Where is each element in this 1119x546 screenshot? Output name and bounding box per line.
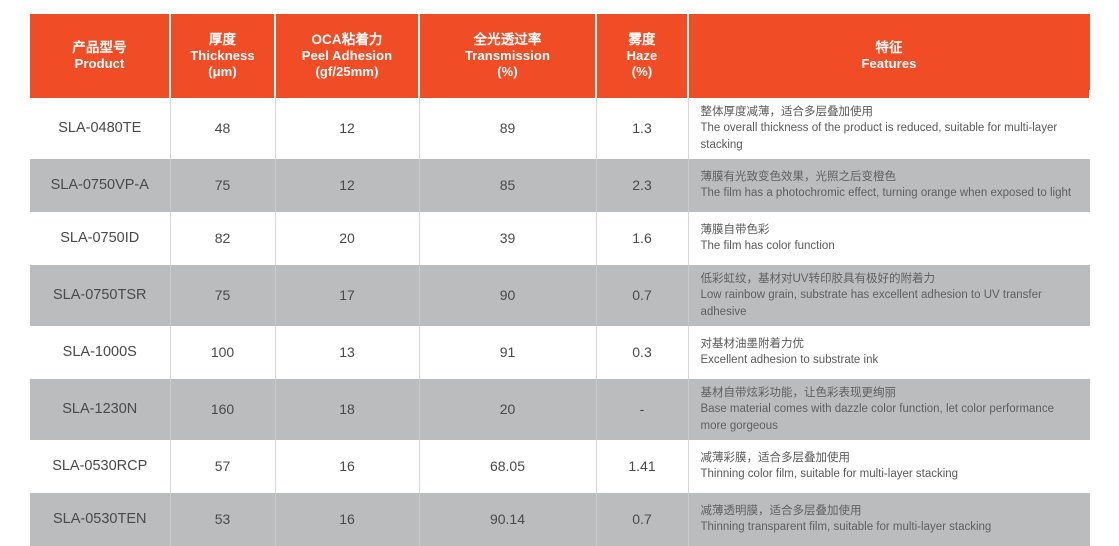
cell-features: 低彩虹纹，基材对UV转印胶具有极好的附着力Low rainbow grain, …: [688, 265, 1090, 326]
cell-product: SLA-0530TEN: [30, 493, 170, 546]
cell-peel-adhesion: 16: [275, 440, 419, 493]
cell-features: 整体厚度减薄，适合多层叠加使用The overall thickness of …: [688, 98, 1090, 159]
column-header-haze-en: Haze: [603, 48, 681, 64]
cell-features: 对基材油墨附着力优Excellent adhesion to substrate…: [688, 326, 1090, 379]
table-row: SLA-0750TSR7517900.7低彩虹纹，基材对UV转印胶具有极好的附着…: [30, 265, 1090, 326]
cell-features: 减薄彩膜，适合多层叠加使用Thinning color film, suitab…: [688, 440, 1090, 493]
feature-text-en: Base material comes with dazzle color fu…: [701, 401, 1081, 434]
column-header-product: 产品型号 Product: [30, 14, 170, 98]
cell-transmission: 20: [419, 379, 596, 440]
feature-text-cn: 减薄彩膜，适合多层叠加使用: [701, 450, 1081, 466]
cell-thickness: 160: [170, 379, 275, 440]
cell-peel-adhesion: 16: [275, 493, 419, 546]
cell-haze: 2.3: [596, 159, 688, 212]
cell-haze: -: [596, 379, 688, 440]
cell-transmission: 90.14: [419, 493, 596, 546]
cell-peel-adhesion: 13: [275, 326, 419, 379]
cell-transmission: 90: [419, 265, 596, 326]
product-specification-table: 产品型号 Product 厚度 Thickness (μm) OCA粘着力 Pe…: [30, 14, 1091, 546]
cell-haze: 1.3: [596, 98, 688, 159]
feature-text-cn: 薄膜有光致变色效果，光照之后变橙色: [701, 169, 1081, 185]
feature-text-cn: 薄膜自带色彩: [701, 222, 1081, 238]
cell-peel-adhesion: 20: [275, 212, 419, 265]
cell-haze: 0.3: [596, 326, 688, 379]
table-row: SLA-0750ID8220391.6薄膜自带色彩The film has co…: [30, 212, 1090, 265]
cell-transmission: 91: [419, 326, 596, 379]
feature-text-en: Low rainbow grain, substrate has excelle…: [701, 287, 1081, 320]
cell-peel-adhesion: 12: [275, 159, 419, 212]
cell-transmission: 85: [419, 159, 596, 212]
feature-text-cn: 对基材油墨附着力优: [701, 336, 1081, 352]
cell-peel-adhesion: 18: [275, 379, 419, 440]
column-header-peel-adhesion-unit: (gf/25mm): [282, 64, 412, 80]
cell-thickness: 75: [170, 159, 275, 212]
feature-text-cn: 基材自带炫彩功能，让色彩表现更绚丽: [701, 385, 1081, 401]
column-header-peel-adhesion: OCA粘着力 Peel Adhesion (gf/25mm): [275, 14, 419, 98]
table-row: SLA-1000S10013910.3对基材油墨附着力优Excellent ad…: [30, 326, 1090, 379]
column-header-features-en: Features: [695, 56, 1083, 72]
cell-product: SLA-1000S: [30, 326, 170, 379]
column-header-transmission: 全光透过率 Transmission (%): [419, 14, 596, 98]
column-header-thickness: 厚度 Thickness (μm): [170, 14, 275, 98]
column-header-peel-adhesion-cn: OCA粘着力: [282, 32, 412, 48]
table-row: SLA-0480TE4812891.3整体厚度减薄，适合多层叠加使用The ov…: [30, 98, 1090, 159]
column-header-transmission-unit: (%): [426, 64, 589, 80]
cell-product: SLA-0750TSR: [30, 265, 170, 326]
cell-thickness: 82: [170, 212, 275, 265]
column-header-product-en: Product: [36, 56, 163, 72]
column-header-transmission-en: Transmission: [426, 48, 589, 64]
cell-haze: 1.41: [596, 440, 688, 493]
column-header-thickness-cn: 厚度: [177, 32, 268, 48]
column-header-features-cn: 特征: [695, 40, 1083, 56]
table-row: SLA-0530RCP571668.051.41减薄彩膜，适合多层叠加使用Thi…: [30, 440, 1090, 493]
cell-product: SLA-0530RCP: [30, 440, 170, 493]
cell-features: 减薄透明膜，适合多层叠加使用Thinning transparent film,…: [688, 493, 1090, 546]
table-row: SLA-1230N1601820-基材自带炫彩功能，让色彩表现更绚丽Base m…: [30, 379, 1090, 440]
header-right-edge-accent: [1086, 14, 1090, 90]
cell-product: SLA-1230N: [30, 379, 170, 440]
feature-text-cn: 整体厚度减薄，适合多层叠加使用: [701, 104, 1081, 120]
cell-transmission: 89: [419, 98, 596, 159]
column-header-product-cn: 产品型号: [36, 40, 163, 56]
cell-thickness: 75: [170, 265, 275, 326]
feature-text-en: Thinning color film, suitable for multi-…: [701, 466, 1081, 482]
column-header-peel-adhesion-en: Peel Adhesion: [282, 48, 412, 64]
feature-text-cn: 低彩虹纹，基材对UV转印胶具有极好的附着力: [701, 271, 1081, 287]
cell-features: 薄膜有光致变色效果，光照之后变橙色The film has a photochr…: [688, 159, 1090, 212]
cell-thickness: 53: [170, 493, 275, 546]
cell-product: SLA-0480TE: [30, 98, 170, 159]
cell-peel-adhesion: 12: [275, 98, 419, 159]
column-header-thickness-en: Thickness: [177, 48, 268, 64]
cell-thickness: 48: [170, 98, 275, 159]
cell-haze: 1.6: [596, 212, 688, 265]
cell-thickness: 100: [170, 326, 275, 379]
table-header: 产品型号 Product 厚度 Thickness (μm) OCA粘着力 Pe…: [30, 14, 1090, 98]
cell-features: 薄膜自带色彩The film has color function: [688, 212, 1090, 265]
column-header-haze-cn: 雾度: [603, 32, 681, 48]
cell-features: 基材自带炫彩功能，让色彩表现更绚丽Base material comes wit…: [688, 379, 1090, 440]
cell-product: SLA-0750VP-A: [30, 159, 170, 212]
column-header-features: 特征 Features: [688, 14, 1090, 98]
cell-peel-adhesion: 17: [275, 265, 419, 326]
feature-text-en: Excellent adhesion to substrate ink: [701, 352, 1081, 368]
feature-text-cn: 减薄透明膜，适合多层叠加使用: [701, 503, 1081, 519]
column-header-haze: 雾度 Haze (%): [596, 14, 688, 98]
cell-thickness: 57: [170, 440, 275, 493]
feature-text-en: The film has a photochromic effect, turn…: [701, 185, 1081, 201]
table-row: SLA-0530TEN531690.140.7减薄透明膜，适合多层叠加使用Thi…: [30, 493, 1090, 546]
cell-transmission: 39: [419, 212, 596, 265]
cell-transmission: 68.05: [419, 440, 596, 493]
cell-haze: 0.7: [596, 265, 688, 326]
column-header-transmission-cn: 全光透过率: [426, 32, 589, 48]
table-row: SLA-0750VP-A7512852.3薄膜有光致变色效果，光照之后变橙色Th…: [30, 159, 1090, 212]
header-row: 产品型号 Product 厚度 Thickness (μm) OCA粘着力 Pe…: [30, 14, 1090, 98]
feature-text-en: Thinning transparent film, suitable for …: [701, 519, 1081, 535]
table-body: SLA-0480TE4812891.3整体厚度减薄，适合多层叠加使用The ov…: [30, 98, 1090, 546]
cell-product: SLA-0750ID: [30, 212, 170, 265]
feature-text-en: The film has color function: [701, 238, 1081, 254]
feature-text-en: The overall thickness of the product is …: [701, 120, 1081, 153]
cell-haze: 0.7: [596, 493, 688, 546]
column-header-thickness-unit: (μm): [177, 64, 268, 80]
column-header-haze-unit: (%): [603, 64, 681, 80]
